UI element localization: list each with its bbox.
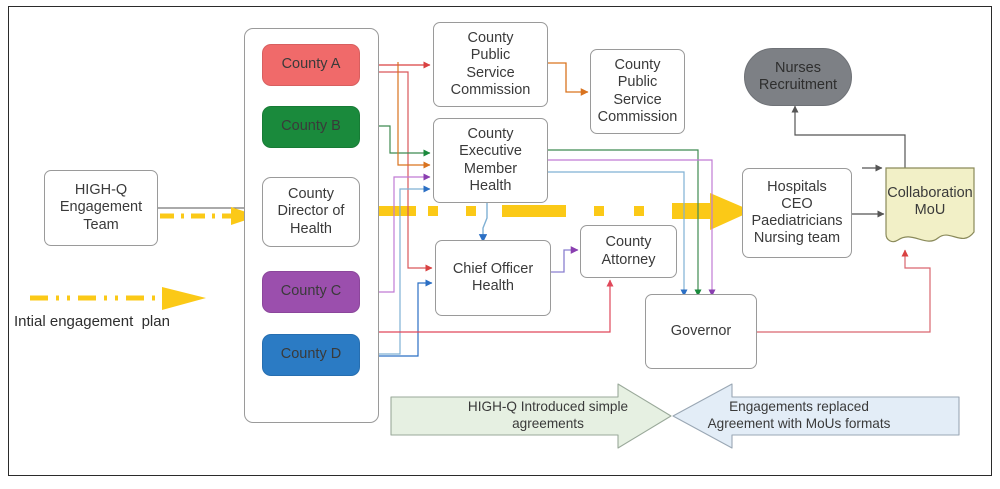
node-label: County C (281, 283, 341, 300)
node-label: County Executive Member Health (459, 126, 522, 194)
node-nurses-recruitment[interactable]: Nurses Recruitment (744, 48, 852, 106)
node-label: HIGH-Q Engagement Team (60, 182, 142, 233)
node-county-attorney[interactable]: County Attorney (580, 225, 677, 278)
banner-label: Engagements replaced Agreement with MoUs… (708, 399, 925, 433)
node-county-public-service-commission-1[interactable]: County Public Service Commission (433, 22, 548, 107)
node-collaboration-mou[interactable]: Collaboration MoU (884, 166, 976, 252)
node-county-director-of-health[interactable]: County Director of Health (262, 177, 360, 247)
diagram-canvas: HIGH-Q Engagement Team County A County B… (0, 0, 1000, 489)
node-chief-officer-health[interactable]: Chief Officer Health (435, 240, 551, 316)
node-label: County Public Service Commission (451, 30, 531, 98)
banner-label: HIGH-Q Introduced simple agreements (434, 399, 628, 433)
node-label: Hospitals CEO Paediatricians Nursing tea… (751, 179, 842, 247)
node-county-b[interactable]: County B (262, 106, 360, 148)
node-county-executive-member-health[interactable]: County Executive Member Health (433, 118, 548, 203)
node-label: County Attorney (602, 234, 656, 268)
node-label: Chief Officer Health (453, 261, 533, 295)
node-county-a[interactable]: County A (262, 44, 360, 86)
node-label: Nurses Recruitment (759, 60, 837, 94)
node-label: County Public Service Commission (598, 57, 678, 125)
node-label: County A (282, 56, 341, 73)
node-hospitals-ceo-paediatricians-nursing-team[interactable]: Hospitals CEO Paediatricians Nursing tea… (742, 168, 852, 258)
node-county-c[interactable]: County C (262, 271, 360, 313)
node-label: County D (281, 346, 341, 363)
node-label: County B (281, 118, 341, 135)
node-highq-engagement-team[interactable]: HIGH-Q Engagement Team (44, 170, 158, 246)
banner-highq-introduced-agreements: HIGH-Q Introduced simple agreements (390, 383, 672, 449)
node-label: Governor (671, 323, 731, 340)
legend-label: Intial engagement plan (14, 313, 170, 330)
node-governor[interactable]: Governor (645, 294, 757, 369)
node-label: Collaboration MoU (887, 185, 972, 234)
banner-engagements-replaced-mous: Engagements replaced Agreement with MoUs… (672, 383, 960, 449)
node-county-public-service-commission-2[interactable]: County Public Service Commission (590, 49, 685, 134)
node-county-d[interactable]: County D (262, 334, 360, 376)
node-label: County Director of Health (278, 186, 345, 237)
